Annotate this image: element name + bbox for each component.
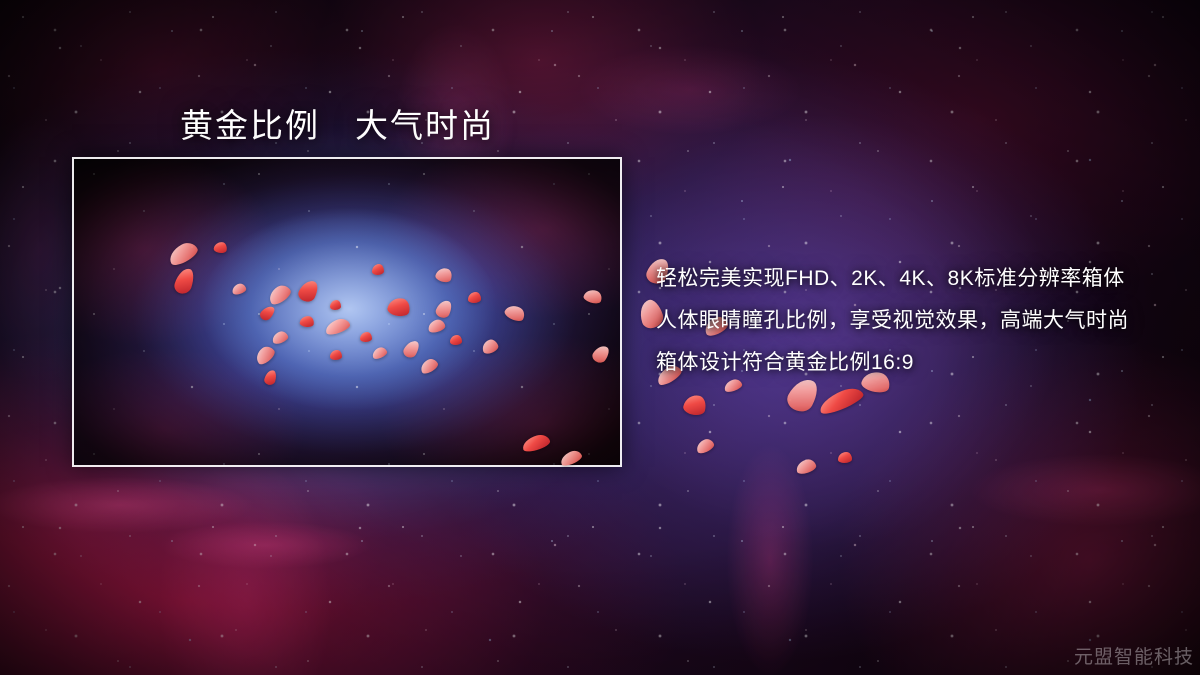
petal	[450, 335, 462, 345]
body-line: 轻松完美实现FHD、2K、4K、8K标准分辨率箱体	[656, 258, 1186, 300]
page-title: 黄金比例 大气时尚	[180, 99, 495, 147]
petal	[360, 332, 372, 342]
body-copy: 轻松完美实现FHD、2K、4K、8K标准分辨率箱体 人体眼睛瞳孔比例，享受视觉效…	[656, 258, 1186, 384]
petal	[372, 264, 384, 275]
watermark: 元盟智能科技	[1074, 642, 1194, 669]
framed-image-content	[74, 159, 620, 465]
petal	[330, 350, 342, 360]
body-line: 箱体设计符合黄金比例16:9	[656, 342, 1186, 384]
framed-image-vignette	[74, 159, 620, 465]
petal	[468, 292, 481, 303]
slide-canvas: 黄金比例 大气时尚 轻松完美实现FHD、2K、4K、8K标准分辨率箱体 人体眼睛…	[0, 0, 1200, 675]
petal	[838, 452, 852, 463]
petal	[330, 300, 341, 310]
framed-image	[72, 157, 622, 467]
body-line: 人体眼睛瞳孔比例，享受视觉效果，高端大气时尚	[656, 300, 1186, 342]
